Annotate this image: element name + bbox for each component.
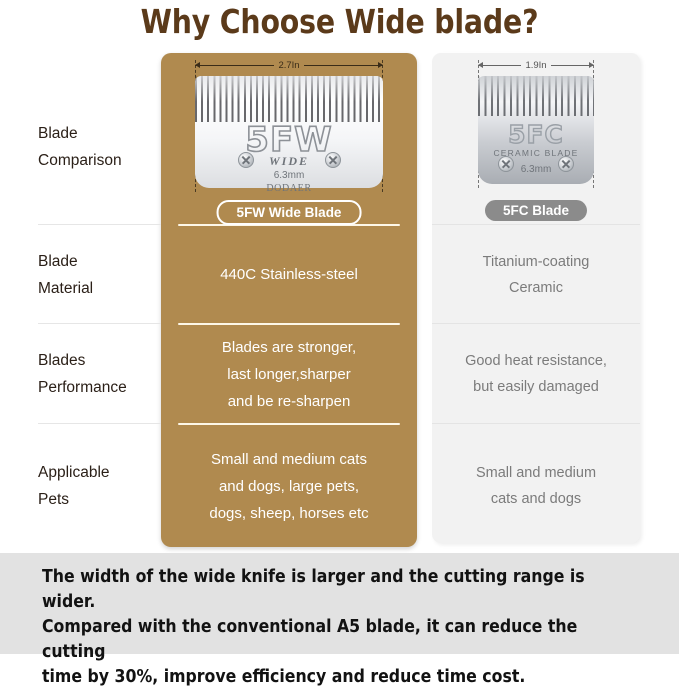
dimension-arrow: 1.9In — [478, 58, 594, 72]
standard-cell-material: Titanium-coating Ceramic — [432, 225, 640, 324]
cell-text-line: dogs, sheep, horses etc — [209, 500, 368, 527]
dimension-line-right — [304, 65, 383, 66]
screw-icon — [238, 152, 254, 168]
dimension-label: 2.7In — [274, 60, 303, 71]
summary-text: The width of the wide knife is larger an… — [42, 565, 591, 690]
standard-blade-image: 1.9In 5FC CERAMIC BLADE 6.3mm 5FC Blade — [432, 52, 640, 225]
cell-text-line: Blades are stronger, — [222, 334, 356, 361]
row-label-line2: Comparison — [38, 147, 158, 174]
featured-blade-image: 2.7In 5FW WIDE 6.3mm DODAER 5FW Wide Bla… — [161, 52, 417, 225]
blade-teeth — [478, 76, 594, 116]
blade-size-text: 6.3mm — [478, 164, 594, 175]
featured-cell-performance: Blades are stronger, last longer,sharper… — [161, 324, 417, 424]
standard-cell-pets: Small and medium cats and dogs — [432, 424, 640, 548]
blade-body: 5FW WIDE 6.3mm DODAER — [195, 76, 383, 188]
row-label-blade-comparison: Blade Comparison — [38, 52, 158, 225]
standard-cell-performance: Good heat resistance, but easily damaged — [432, 324, 640, 424]
standard-product-badge: 5FC Blade — [485, 200, 587, 221]
table-row: Blade Comparison 2.7In 5FW WIDE 6.3mm DO… — [0, 52, 679, 225]
featured-product-badge: 5FW Wide Blade — [217, 200, 362, 225]
summary-line-1: The width of the wide knife is larger an… — [42, 565, 591, 615]
row-label-line2: Material — [38, 275, 158, 302]
featured-cell-material: 440C Stainless-steel — [161, 225, 417, 324]
row-label-applicable-pets: Applicable Pets — [38, 424, 158, 548]
dimension-line-left — [195, 65, 274, 66]
table-row: Blades Performance Blades are stronger, … — [0, 324, 679, 424]
table-row: Blade Material 440C Stainless-steel Tita… — [0, 225, 679, 324]
cell-text-line: Small and medium cats — [211, 446, 367, 473]
blade-teeth — [195, 76, 383, 122]
cell-text-line: last longer,sharper — [227, 361, 350, 388]
row-label-line2: Pets — [38, 486, 158, 513]
page-title: Why Choose Wide blade? — [48, 2, 632, 41]
cell-text-line: Titanium-coating — [483, 249, 590, 275]
summary-line-2: Compared with the conventional A5 blade,… — [42, 615, 591, 665]
cell-text-line: Small and medium — [476, 460, 596, 486]
comparison-table: Blade Comparison 2.7In 5FW WIDE 6.3mm DO… — [0, 52, 679, 548]
cell-text-line: 440C Stainless-steel — [220, 261, 358, 288]
dimension-line-left — [478, 65, 521, 66]
dimension-line-right — [551, 65, 594, 66]
summary-line-3: time by 30%, improve efficiency and redu… — [42, 665, 591, 690]
blade-brand-text: DODAER — [195, 183, 383, 194]
screw-icon — [325, 152, 341, 168]
row-label-line1: Blade — [38, 120, 158, 147]
blade-type-text: CERAMIC BLADE — [478, 148, 594, 158]
featured-cell-pets: Small and medium cats and dogs, large pe… — [161, 424, 417, 548]
cell-text-line: but easily damaged — [473, 374, 599, 400]
row-label-line1: Blade — [38, 248, 158, 275]
blade-size-text: 6.3mm — [195, 170, 383, 181]
screw-icon — [558, 156, 574, 172]
row-label-blade-material: Blade Material — [38, 225, 158, 324]
table-row: Applicable Pets Small and medium cats an… — [0, 424, 679, 548]
cell-text-line: and be re-sharpen — [228, 388, 351, 415]
cell-text-line: cats and dogs — [491, 486, 581, 512]
row-label-blades-performance: Blades Performance — [38, 324, 158, 424]
row-label-line2: Performance — [38, 374, 158, 401]
dimension-label: 1.9In — [521, 60, 550, 71]
dimension-arrow: 2.7In — [195, 58, 383, 72]
blade-model-text: 5FC — [478, 120, 594, 149]
summary-banner: The width of the wide knife is larger an… — [0, 553, 679, 654]
blade-wide-text: WIDE — [195, 154, 383, 169]
row-label-line1: Blades — [38, 347, 158, 374]
cell-text-line: Good heat resistance, — [465, 348, 607, 374]
cell-text-line: Ceramic — [509, 275, 563, 301]
row-label-line1: Applicable — [38, 459, 158, 486]
screw-icon — [498, 156, 514, 172]
cell-text-line: and dogs, large pets, — [219, 473, 359, 500]
blade-body: 5FC CERAMIC BLADE 6.3mm — [478, 76, 594, 184]
